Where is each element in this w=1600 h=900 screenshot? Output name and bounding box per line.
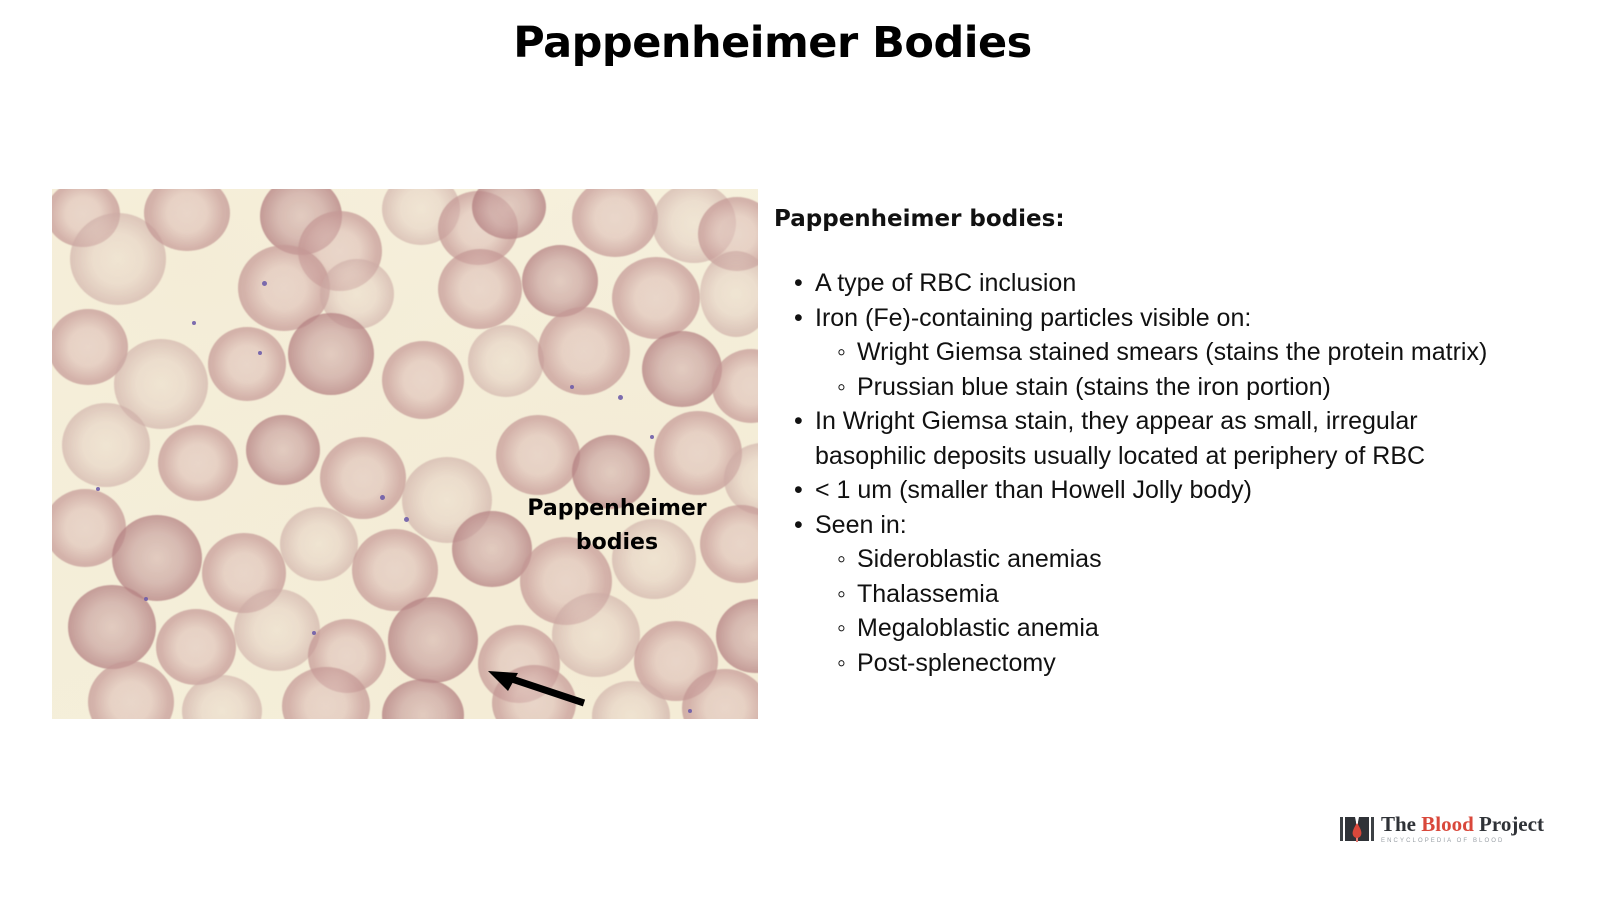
pappenheimer-body-inclusion	[618, 395, 623, 400]
bullet-item: Seen in:Sideroblastic anemiasThalassemia…	[774, 508, 1534, 681]
pappenheimer-body-inclusion	[650, 435, 654, 439]
sub-bullet-item: Sideroblastic anemias	[815, 542, 1534, 577]
bullet-item: Iron (Fe)-containing particles visible o…	[774, 301, 1534, 405]
sub-bullet-item: Thalassemia	[815, 577, 1534, 612]
bullet-list: A type of RBC inclusionIron (Fe)-contain…	[774, 266, 1534, 680]
sub-bullet-item: Megaloblastic anemia	[815, 611, 1534, 646]
red-blood-cell	[496, 415, 580, 495]
content-heading: Pappenheimer bodies:	[774, 206, 1534, 232]
pappenheimer-body-inclusion	[192, 321, 196, 325]
logo-name: The Blood Project	[1381, 814, 1544, 835]
bullet-text: Seen in:	[815, 508, 1534, 543]
red-blood-cell	[246, 415, 320, 485]
sub-bullet-list: Wright Giemsa stained smears (stains the…	[815, 335, 1534, 404]
bullet-item: < 1 um (smaller than Howell Jolly body)	[774, 473, 1534, 508]
red-blood-cell	[388, 597, 478, 683]
page-title: Pappenheimer Bodies	[0, 18, 1545, 68]
pappenheimer-body-inclusion	[312, 631, 316, 635]
red-blood-cell	[320, 437, 406, 519]
logo-name-part2: Project	[1474, 812, 1544, 836]
logo-name-part1: The	[1381, 812, 1421, 836]
red-blood-cell	[208, 327, 286, 401]
sub-bullet-item: Prussian blue stain (stains the iron por…	[815, 370, 1534, 405]
red-blood-cell	[538, 307, 630, 395]
red-blood-cell	[158, 425, 238, 501]
red-blood-cell	[382, 341, 464, 419]
logo-tagline: ENCYCLOPEDIA OF BLOOD	[1381, 838, 1544, 844]
red-blood-cell	[62, 403, 150, 487]
bullet-text: < 1 um (smaller than Howell Jolly body)	[815, 473, 1534, 508]
red-blood-cell	[234, 589, 320, 671]
red-blood-cell	[438, 249, 522, 329]
bullet-text: A type of RBC inclusion	[815, 266, 1534, 301]
pappenheimer-body-inclusion	[258, 351, 262, 355]
sub-bullet-item: Wright Giemsa stained smears (stains the…	[815, 335, 1534, 370]
pappenheimer-body-inclusion	[688, 709, 692, 713]
blood-project-logo[interactable]: The Blood Project ENCYCLOPEDIA OF BLOOD	[1340, 814, 1544, 844]
logo-name-accent: Blood	[1421, 812, 1474, 836]
pappenheimer-body-inclusion	[144, 597, 148, 601]
bullet-item: In Wright Giemsa stain, they appear as s…	[774, 404, 1534, 473]
blood-smear-micrograph	[52, 189, 758, 719]
bullet-item: A type of RBC inclusion	[774, 266, 1534, 301]
red-blood-cell	[468, 325, 544, 397]
bullet-text: Iron (Fe)-containing particles visible o…	[815, 301, 1534, 336]
pappenheimer-body-inclusion	[380, 495, 385, 500]
pappenheimer-body-inclusion	[262, 281, 267, 286]
red-blood-cell	[156, 609, 236, 685]
red-blood-cell	[68, 585, 156, 669]
open-book-blood-drop-icon	[1340, 814, 1374, 844]
logo-text: The Blood Project ENCYCLOPEDIA OF BLOOD	[1381, 814, 1544, 844]
red-blood-cell	[642, 331, 722, 407]
red-blood-cell	[288, 313, 374, 395]
pappenheimer-body-inclusion	[96, 487, 100, 491]
pappenheimer-body-inclusion	[570, 385, 574, 389]
red-blood-cell	[612, 257, 700, 339]
pappenheimer-body-inclusion	[404, 517, 409, 522]
red-blood-cell	[280, 507, 358, 581]
arrow-left-icon	[484, 663, 588, 709]
figure-callout-label: Pappenheimer bodies	[524, 492, 710, 560]
sub-bullet-list: Sideroblastic anemiasThalassemiaMegalobl…	[815, 542, 1534, 680]
sub-bullet-item: Post-splenectomy	[815, 646, 1534, 681]
bullet-text: In Wright Giemsa stain, they appear as s…	[815, 404, 1534, 473]
content-column: Pappenheimer bodies: A type of RBC inclu…	[774, 206, 1534, 680]
